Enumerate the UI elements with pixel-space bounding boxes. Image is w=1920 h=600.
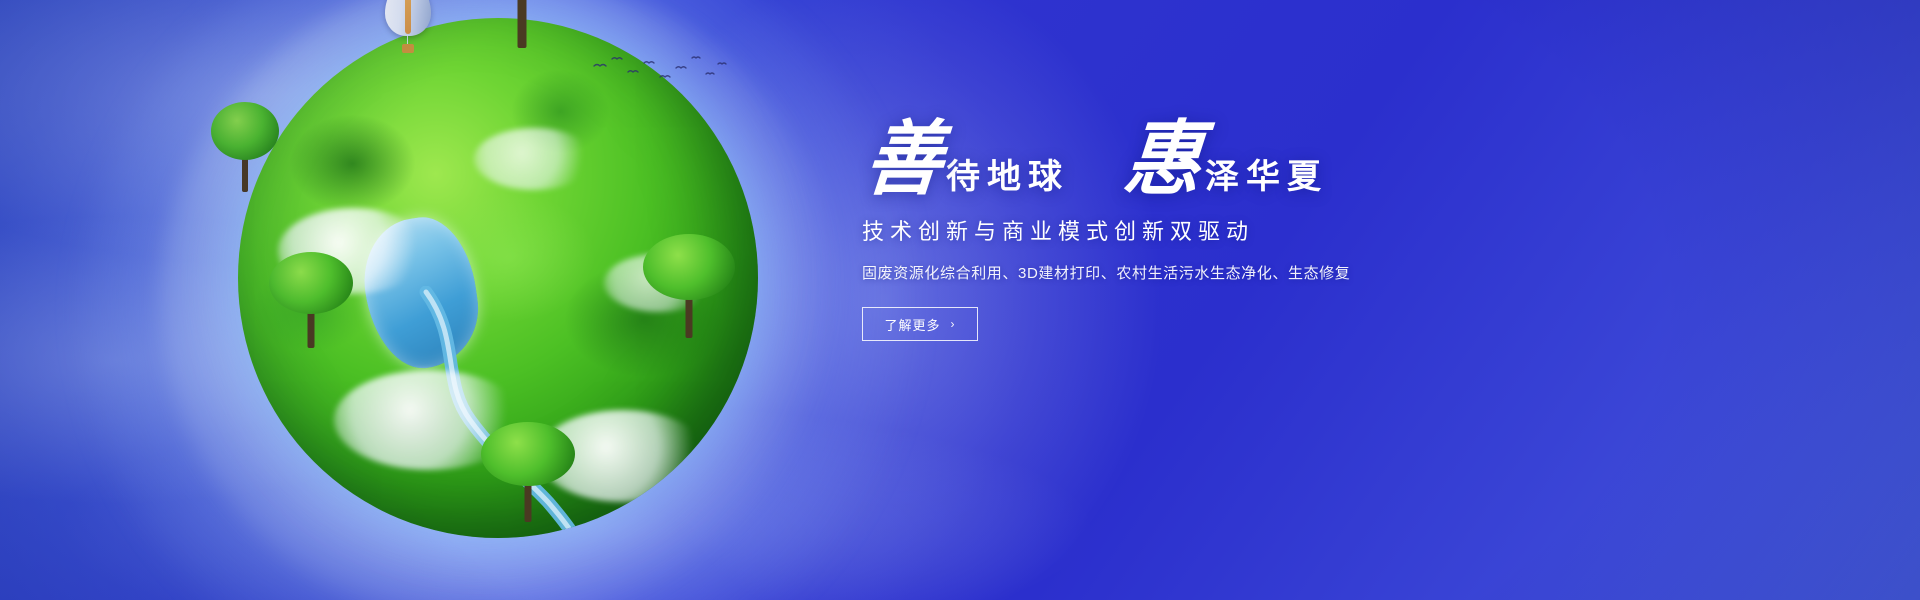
- tiny-planet-illustration: [150, 0, 850, 600]
- page-title: 善 待地球 惠 泽华夏: [862, 126, 1582, 200]
- hot-air-balloon-icon: [385, 0, 431, 56]
- birds-flock-icon: [590, 50, 730, 90]
- learn-more-button[interactable]: 了解更多 ›: [862, 307, 978, 341]
- balloon-stripe: [405, 0, 411, 34]
- hero-subtitle: 技术创新与商业模式创新双驱动: [862, 214, 1582, 246]
- headline-rest-1: 待地球: [936, 160, 1069, 200]
- hero-description: 固废资源化综合利用、3D建材打印、农村生活污水生态净化、生态修复: [862, 262, 1582, 283]
- tree-icon: [642, 234, 736, 338]
- learn-more-label: 了解更多: [884, 315, 940, 334]
- globe-cloud-patch: [474, 128, 594, 190]
- headline-rest-2: 泽华夏: [1195, 160, 1328, 200]
- hero-content: 善 待地球 惠 泽华夏 技术创新与商业模式创新双驱动 固废资源化综合利用、3D建…: [862, 126, 1582, 341]
- balloon-basket: [402, 44, 414, 53]
- tree-icon: [268, 252, 354, 348]
- headline-char-1: 善: [862, 119, 946, 200]
- tree-icon: [480, 422, 576, 522]
- chevron-right-icon: ›: [951, 317, 956, 331]
- headline-char-2: 惠: [1121, 119, 1205, 200]
- tree-icon: [462, 0, 582, 48]
- tree-icon: [210, 102, 280, 192]
- hero-banner: 善 待地球 惠 泽华夏 技术创新与商业模式创新双驱动 固废资源化综合利用、3D建…: [0, 0, 1920, 600]
